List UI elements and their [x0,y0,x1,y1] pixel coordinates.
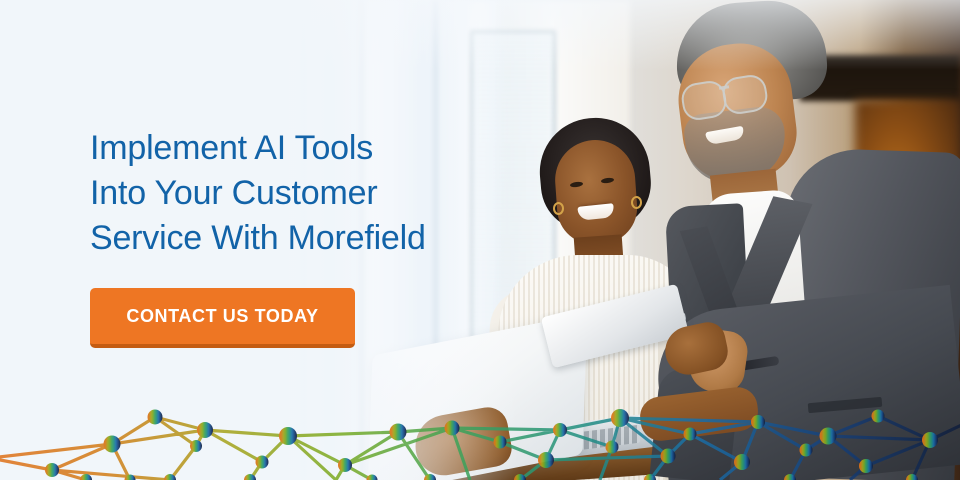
hero-content: Implement AI Tools Into Your Customer Se… [0,0,960,480]
hero-banner: Implement AI Tools Into Your Customer Se… [0,0,960,480]
contact-us-today-button[interactable]: CONTACT US TODAY [90,288,355,348]
page-title: Implement AI Tools Into Your Customer Se… [90,126,426,261]
